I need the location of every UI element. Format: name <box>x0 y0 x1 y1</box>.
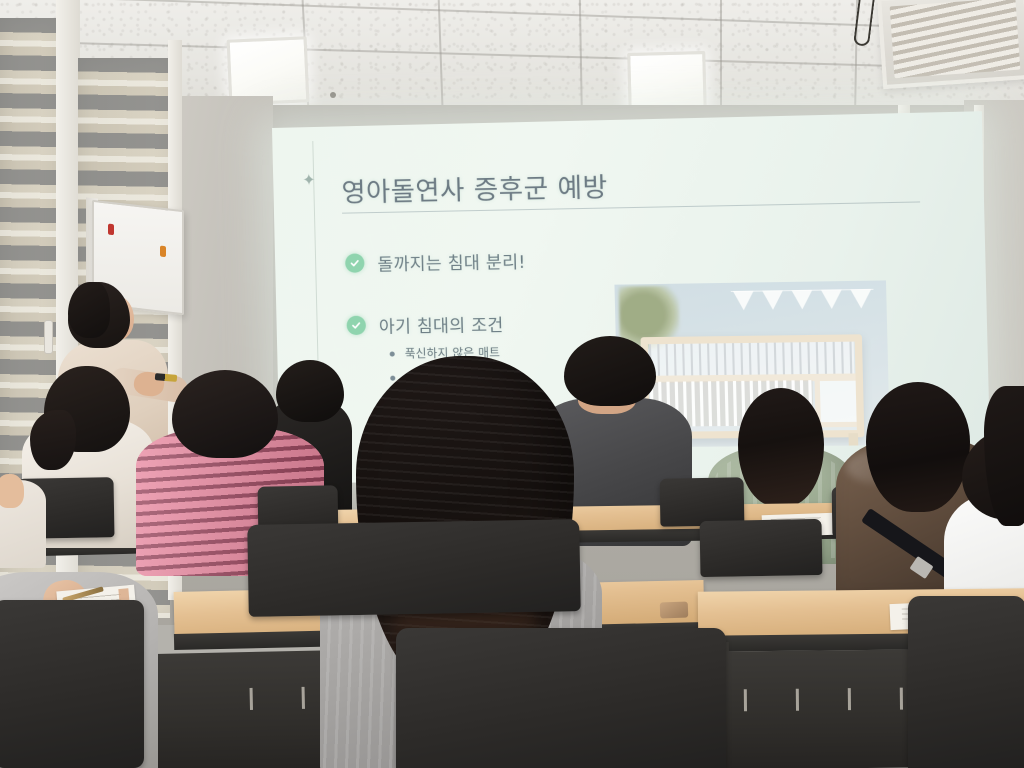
checkpoint-label: 아기 침대의 조건 <box>379 311 504 338</box>
hair <box>738 388 824 506</box>
bullet-dot-icon <box>390 351 395 356</box>
whiteboard-magnet-orange[interactable] <box>160 246 166 258</box>
chair-back-foreground[interactable] <box>908 596 1024 768</box>
chair-back-foreground[interactable] <box>247 519 581 617</box>
hair <box>276 360 344 422</box>
sparkle-icon: ✦ <box>302 173 316 189</box>
hair <box>866 382 970 512</box>
slide-checkpoint-1: 돌까지는 침대 분리! <box>345 248 526 276</box>
slide-checkpoint-2: 아기 침대의 조건 <box>346 311 503 338</box>
blind-handle[interactable] <box>44 320 53 354</box>
crib-leg <box>848 433 858 447</box>
chair-back-foreground[interactable] <box>396 628 726 768</box>
checkpoint-label: 돌까지는 침대 분리! <box>377 248 526 276</box>
ponytail <box>30 410 76 470</box>
hand <box>0 474 24 508</box>
vent-slats <box>890 0 1021 78</box>
bunting-flags <box>731 285 874 318</box>
hair <box>172 370 278 458</box>
whiteboard-magnet-red[interactable] <box>108 224 114 236</box>
smoke-detector-icon <box>330 92 336 98</box>
slide-title: 영아돌연사 증후군 예방 <box>341 167 608 210</box>
small-object[interactable] <box>660 602 689 619</box>
chair-back[interactable] <box>660 477 745 526</box>
presenter-hair-front <box>68 282 110 338</box>
bullet-dot-icon <box>390 376 395 381</box>
air-conditioner-vent <box>877 0 1024 89</box>
chair-back-foreground[interactable] <box>0 600 144 768</box>
check-circle-icon <box>347 316 367 335</box>
check-circle-icon <box>345 253 365 272</box>
chair-back[interactable] <box>700 519 823 577</box>
lecture-room-photo: ✦ 영아돌연사 증후군 예방 돌까지는 침대 분리! 아기 침대의 조건 푹신하… <box>0 0 1024 768</box>
